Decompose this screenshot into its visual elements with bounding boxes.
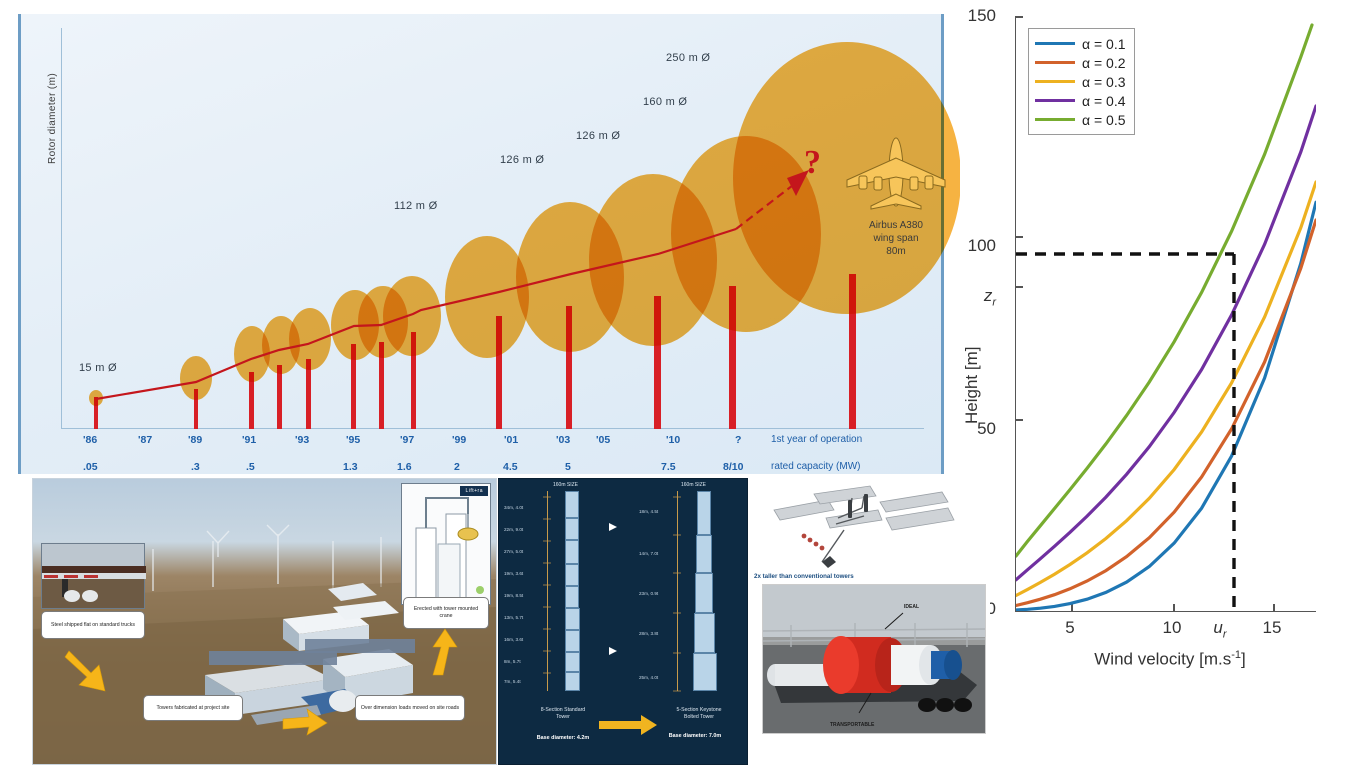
- diameter-label: 112 m Ø: [394, 200, 437, 212]
- left-tower-caption-line1: 8-Section Standard: [541, 707, 585, 713]
- year-tick: '97: [400, 434, 414, 446]
- site-logistics-photo: Lift+ra Steel shipped flat on standard t…: [32, 478, 497, 765]
- ur-label: u: [1213, 618, 1222, 637]
- tower-scale-ticks: [499, 479, 747, 764]
- y-tick-label: 100: [968, 236, 996, 256]
- year-tick: '91: [242, 434, 256, 446]
- wind-chart-y-axis-label: Height [m]: [962, 347, 982, 424]
- legend-item: α = 0.3: [1035, 72, 1126, 91]
- capacity-tick: 1.3: [343, 461, 358, 473]
- transportable-heading: 2x taller than conventional towers: [754, 573, 854, 580]
- legend-label: α = 0.3: [1082, 74, 1126, 90]
- legend-color-swatch: [1035, 61, 1075, 64]
- diameter-label: 126 m Ø: [576, 130, 620, 142]
- legend-label: α = 0.5: [1082, 112, 1126, 128]
- year-tick: '95: [346, 434, 360, 446]
- diameter-label: 126 m Ø: [500, 154, 544, 166]
- legend-color-swatch: [1035, 99, 1075, 102]
- diameter-label: 250 m Ø: [666, 52, 710, 64]
- x-axis-label-sup: -1: [1231, 649, 1241, 661]
- turbine-tower: [277, 365, 282, 429]
- transportable-photo: [762, 584, 986, 734]
- capacity-tick: 1.6: [397, 461, 412, 473]
- x-tick-label: 15: [1260, 618, 1284, 638]
- left-tower-caption: 8-Section Standard Tower: [523, 707, 603, 721]
- capacity-tick: 4.5: [503, 461, 518, 473]
- year-tick: '86: [83, 434, 97, 446]
- year-tick: '93: [295, 434, 309, 446]
- callout-steel-shipped: Steel shipped flat on standard trucks: [41, 611, 145, 639]
- lift-brand-text: Lift+ra: [465, 488, 483, 494]
- question-mark-annotation: ?: [804, 144, 821, 182]
- plane-caption: Airbus A380 wing span 80m: [836, 219, 956, 258]
- year-row-caption: 1st year of operation: [771, 434, 862, 445]
- transportable-label: TRANSPORTABLE: [830, 722, 874, 728]
- callout-over-dimension-loads: Over dimension loads moved on site roads: [355, 695, 465, 721]
- x-axis-label-text: Wind velocity [m.s: [1094, 650, 1231, 669]
- plane-caption-line2: wing span: [873, 233, 918, 244]
- wind-chart-legend: α = 0.1 α = 0.2 α = 0.3 α = 0.4 α = 0.5: [1028, 28, 1135, 135]
- callout-crane-erected: Erected with tower mounted crane: [403, 597, 489, 629]
- legend-item: α = 0.2: [1035, 53, 1126, 72]
- capacity-tick: 7.5: [661, 461, 676, 473]
- capacity-row-caption: rated capacity (MW): [771, 461, 860, 472]
- right-tower-caption-line2: Bolted Tower: [684, 714, 714, 720]
- right-base-diameter: Base diameter: 7.0m: [645, 733, 745, 739]
- y-tick-label: 50: [977, 419, 996, 439]
- capacity-tick: .3: [191, 461, 200, 473]
- year-tick: '99: [452, 434, 466, 446]
- legend-color-swatch: [1035, 80, 1075, 83]
- year-tick: '87: [138, 434, 152, 446]
- year-tick: '10: [666, 434, 680, 446]
- legend-color-swatch: [1035, 42, 1075, 45]
- callout-towers-fabricated: Towers fabricated at project site: [143, 695, 243, 721]
- y-tick-label: zr: [984, 286, 996, 308]
- capacity-tick: .05: [83, 461, 98, 473]
- capacity-tick: 2: [454, 461, 460, 473]
- year-tick: ?: [735, 434, 741, 446]
- lift-brand-badge: Lift+ra: [460, 486, 488, 496]
- wind-profile-chart: Height [m] 150 100 zr 50 0 5 10 ur 15 Wi…: [960, 4, 1360, 704]
- tower-section-comparison: 160m SIZE 160m SIZE 34m, 4.0t 22m, 9.0t …: [498, 478, 748, 765]
- year-tick: '03: [556, 434, 570, 446]
- capacity-tick: .5: [246, 461, 255, 473]
- trailer-tower-illustration: [763, 585, 985, 733]
- year-tick: '01: [504, 434, 518, 446]
- transition-arrow-icon: [599, 715, 657, 735]
- crane-illustration: [402, 484, 492, 606]
- year-row-caption-text: 1st year of operation: [771, 434, 862, 445]
- zr-label-sub: r: [992, 296, 996, 308]
- legend-item: α = 0.5: [1035, 110, 1126, 129]
- wind-chart-plot-area: α = 0.1 α = 0.2 α = 0.3 α = 0.4 α = 0.5: [1015, 16, 1316, 612]
- airbus-a380-annotation: Airbus A380 wing span 80m: [836, 132, 956, 258]
- plane-caption-line3: 80m: [886, 246, 905, 257]
- rotor-circle: [445, 236, 529, 358]
- capacity-tick: 8/10: [723, 461, 743, 473]
- year-tick: '89: [188, 434, 202, 446]
- transportable-tower-panel: 2x taller than conventional towers: [752, 478, 990, 763]
- x-tick-label: ur: [1208, 618, 1232, 640]
- right-tower-caption-line1: 5-Section Keystone: [677, 707, 722, 713]
- y-tick-label: 150: [968, 6, 996, 26]
- tower-mounted-crane-inset: Lift+ra: [401, 483, 491, 605]
- legend-label: α = 0.2: [1082, 55, 1126, 71]
- plane-caption-line1: Airbus A380: [869, 220, 923, 231]
- year-tick: '05: [596, 434, 610, 446]
- legend-label: α = 0.1: [1082, 36, 1126, 52]
- ideal-label: IDEAL: [904, 604, 919, 610]
- flatbed-truck-illustration: [42, 544, 146, 610]
- rotor-circle: [289, 308, 331, 370]
- x-tick-label: 5: [1058, 618, 1082, 638]
- diameter-label: 160 m Ø: [643, 96, 687, 108]
- x-tick-label: 10: [1160, 618, 1184, 638]
- legend-item: α = 0.4: [1035, 91, 1126, 110]
- capacity-tick: 5: [565, 461, 571, 473]
- wind-chart-x-axis-label: Wind velocity [m.s-1]: [1020, 649, 1320, 670]
- ur-label-sub: r: [1223, 628, 1227, 640]
- x-axis-label-tail: ]: [1241, 650, 1246, 669]
- left-base-diameter: Base diameter: 4.2m: [513, 735, 613, 741]
- exploded-turbine-assembly: [752, 478, 990, 578]
- rotor-circle: [89, 390, 103, 406]
- airplane-icon: [841, 132, 951, 212]
- left-tower-caption-line2: Tower: [556, 714, 570, 720]
- legend-item: α = 0.1: [1035, 34, 1126, 53]
- flatbed-truck-inset: [41, 543, 145, 609]
- legend-label: α = 0.4: [1082, 93, 1126, 109]
- rotor-circle: [180, 356, 212, 400]
- rotor-growth-chart: Rotor diameter (m) 15 m Ø 112 m Ø 126 m …: [18, 14, 944, 474]
- rotor-circle: [383, 276, 441, 356]
- legend-color-swatch: [1035, 118, 1075, 121]
- diameter-label: 15 m Ø: [79, 362, 117, 374]
- rotor-chart-y-axis-label: Rotor diameter (m): [47, 73, 58, 164]
- right-tower-caption: 5-Section Keystone Bolted Tower: [657, 707, 741, 721]
